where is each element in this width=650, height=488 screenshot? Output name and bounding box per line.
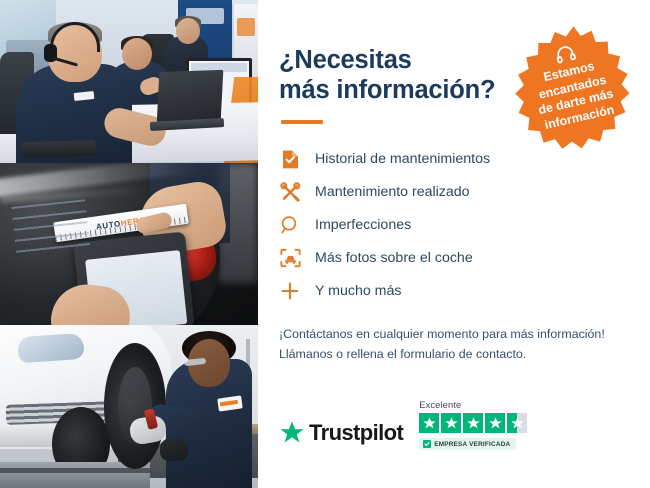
page-title-line-1: ¿Necesitas [279, 46, 519, 76]
trustpilot-widget[interactable]: Trustpilot Excelente [279, 399, 527, 450]
list-item-label: Y mucho más [315, 284, 401, 298]
car-inspection-ruler-photo: AUTOHERO [0, 163, 258, 325]
list-item: Imperfecciones [279, 209, 622, 242]
contact-copy-line-1: ¡Contáctanos en cualquier momento para m… [279, 324, 622, 344]
trustpilot-rating-label: Excelente [419, 399, 461, 410]
list-item-label: Mantenimiento realizado [315, 185, 470, 199]
document-check-icon [279, 148, 301, 170]
plus-icon [279, 280, 301, 302]
contact-promo-card: AUTOHERO [0, 0, 650, 488]
call-center-agents-photo [0, 0, 258, 163]
list-item-label: Imperfecciones [315, 218, 411, 232]
star-filled [441, 413, 461, 433]
trustpilot-stars [419, 413, 527, 433]
page-title-line-2: más información? [279, 76, 519, 106]
support-badge-content: Estamos encantados de darte más informac… [494, 12, 650, 172]
list-item-label: Más fotos sobre el coche [315, 251, 473, 265]
contact-copy: ¡Contáctanos en cualquier momento para m… [279, 324, 622, 364]
ruler-brand-auto: AUTO [95, 219, 121, 231]
page-title: ¿Necesitas más información? [279, 46, 519, 106]
trustpilot-wordmark: Trustpilot [309, 422, 403, 444]
verified-company-label: EMPRESA VERIFICADA [434, 441, 510, 448]
list-item: Y mucho más [279, 275, 622, 308]
list-item: Más fotos sobre el coche [279, 242, 622, 275]
magnifier-icon [279, 214, 301, 236]
star-filled [419, 413, 439, 433]
title-accent-divider [281, 120, 323, 124]
support-badge-text: Estamos encantados de darte más informac… [513, 52, 636, 138]
check-icon [423, 440, 431, 448]
headset-icon [553, 44, 576, 65]
photo-column: AUTOHERO [0, 0, 258, 488]
star-half [507, 413, 527, 433]
star-filled [463, 413, 483, 433]
trustpilot-logo: Trustpilot [279, 420, 403, 446]
wrench-screwdriver-icon [279, 181, 301, 203]
verified-company-badge: EMPRESA VERIFICADA [419, 438, 516, 450]
trustpilot-rating: Excelente [419, 399, 527, 450]
star-filled [485, 413, 505, 433]
list-item-label: Historial de mantenimientos [315, 152, 490, 166]
feature-list: Historial de mantenimientos Mantenimient… [279, 143, 622, 308]
contact-copy-line-2: Llámanos o rellena el formulario de cont… [279, 344, 622, 364]
car-scan-icon [279, 247, 301, 269]
content-panel: ¿Necesitas más información? Historial de… [258, 0, 650, 488]
mechanic-wheel-check-photo [0, 325, 258, 488]
trustpilot-star-icon [279, 420, 305, 446]
support-badge: Estamos encantados de darte más informac… [507, 25, 640, 158]
list-item: Mantenimiento realizado [279, 176, 622, 209]
